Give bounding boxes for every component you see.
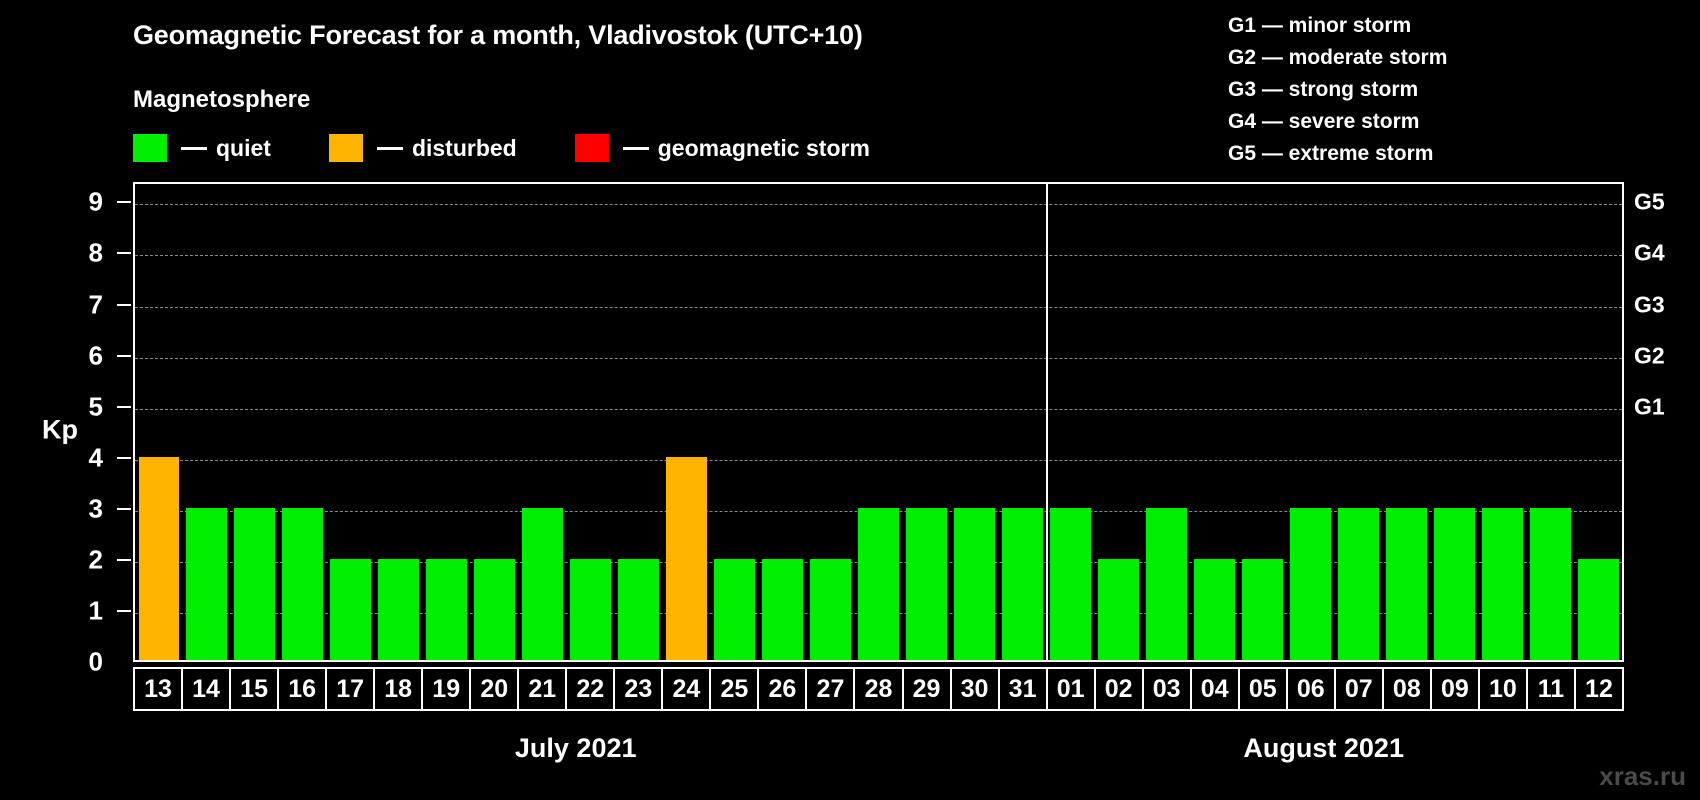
y-tick-label-1: 1 xyxy=(89,595,103,626)
bar-cell xyxy=(950,184,998,660)
bar-day-10 xyxy=(1482,508,1523,660)
day-label-14: 14 xyxy=(183,669,231,709)
day-label-08: 08 xyxy=(1384,669,1432,709)
day-label-13: 13 xyxy=(135,669,183,709)
bar-cell xyxy=(1238,184,1286,660)
bar-day-29 xyxy=(906,508,947,660)
page-title: Geomagnetic Forecast for a month, Vladiv… xyxy=(133,20,863,51)
bars-layer xyxy=(135,184,1622,660)
bar-cell xyxy=(1190,184,1238,660)
bar-day-17 xyxy=(330,559,371,660)
day-label-15: 15 xyxy=(231,669,279,709)
legend-swatch-storm xyxy=(575,134,609,162)
day-label-18: 18 xyxy=(375,669,423,709)
g-level-label-G3: G3 xyxy=(1634,291,1665,318)
bar-cell xyxy=(183,184,231,660)
bar-day-16 xyxy=(282,508,323,660)
legend-swatch-quiet xyxy=(133,134,167,162)
day-label-25: 25 xyxy=(711,669,759,709)
day-label-21: 21 xyxy=(519,669,567,709)
y-tick-label-9: 9 xyxy=(89,187,103,218)
bar-day-27 xyxy=(810,559,851,660)
y-tick-label-7: 7 xyxy=(89,289,103,320)
bar-day-23 xyxy=(618,559,659,660)
plot-inner xyxy=(135,184,1622,660)
y-tick-mark-1 xyxy=(117,610,131,612)
bar-cell xyxy=(1094,184,1142,660)
bar-day-25 xyxy=(714,559,755,660)
bar-cell xyxy=(471,184,519,660)
day-label-06: 06 xyxy=(1288,669,1336,709)
g-scale-legend: G1 — minor stormG2 — moderate stormG3 — … xyxy=(1228,10,1447,170)
bar-cell xyxy=(135,184,183,660)
bar-day-26 xyxy=(762,559,803,660)
day-axis-strip: 1314151617181920212223242526272829303101… xyxy=(133,667,1624,711)
y-tick-mark-2 xyxy=(117,559,131,561)
bar-cell xyxy=(759,184,807,660)
day-label-01: 01 xyxy=(1048,669,1096,709)
legend-label-quiet: quiet xyxy=(216,135,271,162)
bar-day-24 xyxy=(666,457,707,660)
y-tick-label-6: 6 xyxy=(89,340,103,371)
bar-cell xyxy=(1382,184,1430,660)
day-label-05: 05 xyxy=(1240,669,1288,709)
day-label-17: 17 xyxy=(327,669,375,709)
legend-label-disturbed: disturbed xyxy=(412,135,517,162)
y-axis: 0123456789 xyxy=(0,182,133,662)
legend-dash-icon xyxy=(181,147,207,150)
legend: quietdisturbedgeomagnetic storm xyxy=(133,133,928,163)
day-label-09: 09 xyxy=(1432,669,1480,709)
chart-plot-area xyxy=(133,182,1624,662)
y-tick-mark-4 xyxy=(117,457,131,459)
day-label-16: 16 xyxy=(279,669,327,709)
day-label-30: 30 xyxy=(952,669,1000,709)
bar-day-28 xyxy=(858,508,899,660)
y-tick-mark-7 xyxy=(117,304,131,306)
bar-day-21 xyxy=(522,508,563,660)
day-label-23: 23 xyxy=(615,669,663,709)
day-label-28: 28 xyxy=(855,669,903,709)
y-tick-label-4: 4 xyxy=(89,442,103,473)
y-tick-mark-5 xyxy=(117,406,131,408)
legend-swatch-disturbed xyxy=(329,134,363,162)
bar-day-22 xyxy=(570,559,611,660)
y-tick-mark-6 xyxy=(117,355,131,357)
bar-cell xyxy=(855,184,903,660)
bar-day-01 xyxy=(1050,508,1091,660)
bar-day-13 xyxy=(139,457,180,660)
bar-day-18 xyxy=(378,559,419,660)
day-label-22: 22 xyxy=(567,669,615,709)
bar-cell xyxy=(567,184,615,660)
bar-day-30 xyxy=(954,508,995,660)
legend-dash-icon xyxy=(377,147,403,150)
bar-cell xyxy=(1334,184,1382,660)
legend-item-storm: geomagnetic storm xyxy=(575,134,870,162)
legend-label-storm: geomagnetic storm xyxy=(658,135,870,162)
watermark: xras.ru xyxy=(1599,761,1686,792)
day-label-20: 20 xyxy=(471,669,519,709)
y-tick-label-8: 8 xyxy=(89,238,103,269)
bar-cell xyxy=(279,184,327,660)
day-label-10: 10 xyxy=(1480,669,1528,709)
bar-cell xyxy=(711,184,759,660)
bar-cell xyxy=(231,184,279,660)
legend-heading: Magnetosphere xyxy=(133,86,310,114)
day-label-07: 07 xyxy=(1336,669,1384,709)
y-tick-mark-8 xyxy=(117,252,131,254)
bar-day-03 xyxy=(1146,508,1187,660)
bar-day-02 xyxy=(1098,559,1139,660)
g-scale-line-2: G2 — moderate storm xyxy=(1228,42,1447,74)
day-label-26: 26 xyxy=(759,669,807,709)
legend-dash-icon xyxy=(623,147,649,150)
y-tick-label-5: 5 xyxy=(89,391,103,422)
g-scale-line-3: G3 — strong storm xyxy=(1228,74,1447,106)
bar-day-31 xyxy=(1002,508,1043,660)
bar-cell xyxy=(807,184,855,660)
y-tick-label-3: 3 xyxy=(89,493,103,524)
day-label-12: 12 xyxy=(1576,669,1622,709)
g-scale-line-5: G5 — extreme storm xyxy=(1228,138,1447,170)
bar-cell xyxy=(998,184,1046,660)
month-label-august: August 2021 xyxy=(0,733,1700,764)
bar-cell xyxy=(519,184,567,660)
bar-day-19 xyxy=(426,559,467,660)
bar-cell xyxy=(1574,184,1622,660)
bar-day-09 xyxy=(1434,508,1475,660)
bar-cell xyxy=(1526,184,1574,660)
bar-day-04 xyxy=(1194,559,1235,660)
month-divider-line xyxy=(1046,184,1048,660)
bar-day-14 xyxy=(186,508,227,660)
y-tick-mark-9 xyxy=(117,201,131,203)
bar-cell xyxy=(1046,184,1094,660)
bar-cell xyxy=(663,184,711,660)
bar-day-08 xyxy=(1386,508,1427,660)
y-tick-label-2: 2 xyxy=(89,544,103,575)
bar-day-15 xyxy=(234,508,275,660)
g-scale-line-1: G1 — minor storm xyxy=(1228,10,1447,42)
g-level-label-G2: G2 xyxy=(1634,342,1665,369)
bar-cell xyxy=(903,184,951,660)
bar-day-05 xyxy=(1242,559,1283,660)
bar-cell xyxy=(1286,184,1334,660)
day-label-19: 19 xyxy=(423,669,471,709)
day-label-27: 27 xyxy=(807,669,855,709)
bar-day-20 xyxy=(474,559,515,660)
day-label-29: 29 xyxy=(904,669,952,709)
bar-cell xyxy=(615,184,663,660)
legend-item-disturbed: disturbed xyxy=(329,134,517,162)
bar-day-06 xyxy=(1290,508,1331,660)
bar-day-12 xyxy=(1578,559,1619,660)
bar-cell xyxy=(327,184,375,660)
bar-cell xyxy=(1430,184,1478,660)
bar-day-11 xyxy=(1530,508,1571,660)
day-label-31: 31 xyxy=(1000,669,1048,709)
g-level-label-G1: G1 xyxy=(1634,393,1665,420)
y-tick-mark-3 xyxy=(117,508,131,510)
bar-cell xyxy=(1142,184,1190,660)
g-level-label-G4: G4 xyxy=(1634,240,1665,267)
bar-cell xyxy=(375,184,423,660)
day-label-11: 11 xyxy=(1528,669,1576,709)
legend-item-quiet: quiet xyxy=(133,134,271,162)
day-label-02: 02 xyxy=(1096,669,1144,709)
g-level-label-G5: G5 xyxy=(1634,189,1665,216)
bar-day-07 xyxy=(1338,508,1379,660)
g-right-labels: G1G2G3G4G5 xyxy=(1626,182,1700,662)
bar-cell xyxy=(1478,184,1526,660)
day-label-03: 03 xyxy=(1144,669,1192,709)
g-scale-line-4: G4 — severe storm xyxy=(1228,106,1447,138)
bar-cell xyxy=(423,184,471,660)
day-label-04: 04 xyxy=(1192,669,1240,709)
day-label-24: 24 xyxy=(663,669,711,709)
y-tick-label-0: 0 xyxy=(89,647,103,678)
